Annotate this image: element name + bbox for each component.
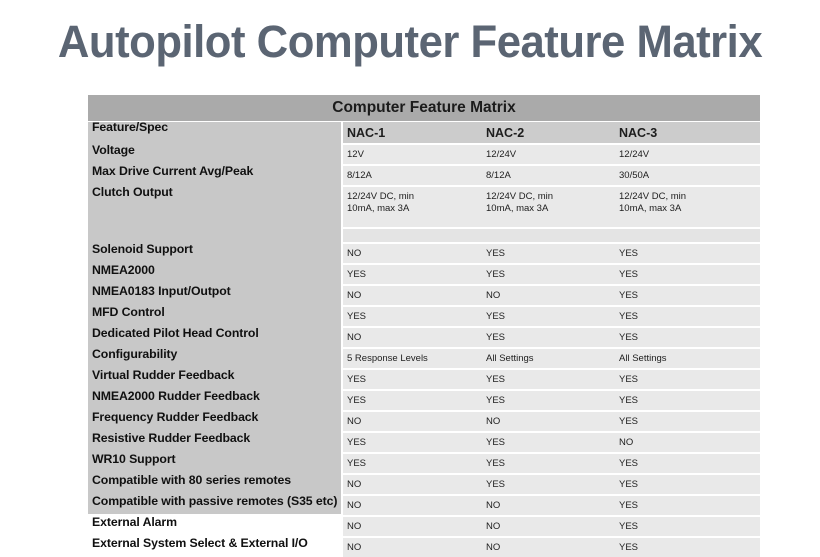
row-label: NMEA0183 Input/Outpot <box>92 283 341 299</box>
row-label: Feature/Spec <box>92 119 341 135</box>
table-cell: 12/24V DC, min 10mA, max 3A <box>615 187 760 227</box>
table-cell: All Settings <box>482 349 615 368</box>
table-cell: 12/24V DC, min 10mA, max 3A <box>343 187 482 227</box>
table-cell: YES <box>615 244 760 263</box>
table-cell: NO <box>343 244 482 263</box>
table-cell: YES <box>615 538 760 557</box>
table-cell: YES <box>482 475 615 494</box>
row-label: Configurability <box>92 346 341 362</box>
row-label: Compatible with 80 series remotes <box>92 472 341 488</box>
table-cell: YES <box>615 475 760 494</box>
table-row <box>343 229 760 242</box>
table-row: NOYESYES <box>343 475 760 494</box>
table-row: NONOYES <box>343 517 760 536</box>
row-label: External System Select & External I/O <box>92 535 341 551</box>
table-cell: 5 Response Levels <box>343 349 482 368</box>
table-cell: NO <box>343 538 482 557</box>
table-row: NONOYES <box>343 538 760 557</box>
table-cell: YES <box>343 307 482 326</box>
table-cell: 12/24V <box>615 145 760 164</box>
table-cell: YES <box>482 328 615 347</box>
page-title: Autopilot Computer Feature Matrix <box>12 14 807 70</box>
table-cell: YES <box>615 328 760 347</box>
table-cell: YES <box>615 286 760 305</box>
table-row: 12V12/24V12/24V <box>343 145 760 164</box>
value-grid: NAC-1NAC-2NAC-312V12/24V12/24V8/12A8/12A… <box>343 122 760 514</box>
table-cell <box>615 229 760 242</box>
table-row: NOYESYES <box>343 244 760 263</box>
table-row: YESYESYES <box>343 454 760 473</box>
table-cell: YES <box>615 412 760 431</box>
table-row: NONOYES <box>343 412 760 431</box>
table-row: 12/24V DC, min 10mA, max 3A12/24V DC, mi… <box>343 187 760 227</box>
table-row: NOYESYES <box>343 328 760 347</box>
table-cell: NO <box>482 286 615 305</box>
table-cell: NO <box>343 286 482 305</box>
table-cell: NO <box>343 412 482 431</box>
row-label: Compatible with passive remotes (S35 etc… <box>92 493 341 509</box>
table-cell: NO <box>343 517 482 536</box>
column-header-cell: NAC-2 <box>482 122 615 143</box>
table-cell: YES <box>482 244 615 263</box>
row-label: Voltage <box>92 142 341 158</box>
row-label: Virtual Rudder Feedback <box>92 367 341 383</box>
table-cell: YES <box>482 454 615 473</box>
feature-matrix-table: Computer Feature Matrix NAC-1NAC-2NAC-31… <box>88 95 760 514</box>
table-cell: YES <box>615 517 760 536</box>
table-cell: NO <box>482 412 615 431</box>
table-cell: YES <box>482 265 615 284</box>
table-cell: YES <box>615 370 760 389</box>
table-cell: YES <box>482 433 615 452</box>
table-cell: 12/24V <box>482 145 615 164</box>
table-cell: 8/12A <box>482 166 615 185</box>
table-row: NONOYES <box>343 286 760 305</box>
row-label: MFD Control <box>92 304 341 320</box>
table-cell: 30/50A <box>615 166 760 185</box>
table-cell: YES <box>615 496 760 515</box>
table-row: 8/12A8/12A30/50A <box>343 166 760 185</box>
table-cell: YES <box>615 391 760 410</box>
row-label: Frequency Rudder Feedback <box>92 409 341 425</box>
table-cell: 12V <box>343 145 482 164</box>
table-row: YESYESYES <box>343 265 760 284</box>
row-label: NMEA2000 Rudder Feedback <box>92 388 341 404</box>
column-header-cell: NAC-1 <box>343 122 482 143</box>
table-cell: NO <box>482 538 615 557</box>
table-cell <box>343 229 482 242</box>
table-cell: NO <box>615 433 760 452</box>
table-cell: All Settings <box>615 349 760 368</box>
table-cell: YES <box>615 307 760 326</box>
row-label: Max Drive Current Avg/Peak <box>92 163 341 179</box>
table-row: YESYESNO <box>343 433 760 452</box>
table-cell: NO <box>482 517 615 536</box>
row-label: External Alarm <box>92 514 341 530</box>
row-label: WR10 Support <box>92 451 341 467</box>
table-row: NONOYES <box>343 496 760 515</box>
table-cell: YES <box>343 454 482 473</box>
table-cell: YES <box>482 391 615 410</box>
table-cell: NO <box>343 328 482 347</box>
table-cell: 12/24V DC, min 10mA, max 3A <box>482 187 615 227</box>
table-cell: YES <box>343 265 482 284</box>
row-label: Clutch Output <box>92 184 341 200</box>
table-row: 5 Response LevelsAll SettingsAll Setting… <box>343 349 760 368</box>
table-cell <box>482 229 615 242</box>
table-cell: YES <box>343 370 482 389</box>
table-cell: YES <box>482 307 615 326</box>
table-row: YESYESYES <box>343 391 760 410</box>
row-label: Resistive Rudder Feedback <box>92 430 341 446</box>
table-cell: YES <box>482 370 615 389</box>
table-header-row: NAC-1NAC-2NAC-3 <box>343 122 760 143</box>
table-cell: NO <box>343 475 482 494</box>
table-cell: YES <box>615 265 760 284</box>
table-caption: Computer Feature Matrix <box>88 95 760 121</box>
table-cell: YES <box>343 391 482 410</box>
table-cell: YES <box>615 454 760 473</box>
table-cell: YES <box>343 433 482 452</box>
table-cell: NO <box>343 496 482 515</box>
table-row: YESYESYES <box>343 307 760 326</box>
row-label: Solenoid Support <box>92 241 341 257</box>
column-header-cell: NAC-3 <box>615 122 760 143</box>
table-row: YESYESYES <box>343 370 760 389</box>
row-label: Dedicated Pilot Head Control <box>92 325 341 341</box>
table-cell: 8/12A <box>343 166 482 185</box>
table-cell: NO <box>482 496 615 515</box>
row-label: NMEA2000 <box>92 262 341 278</box>
